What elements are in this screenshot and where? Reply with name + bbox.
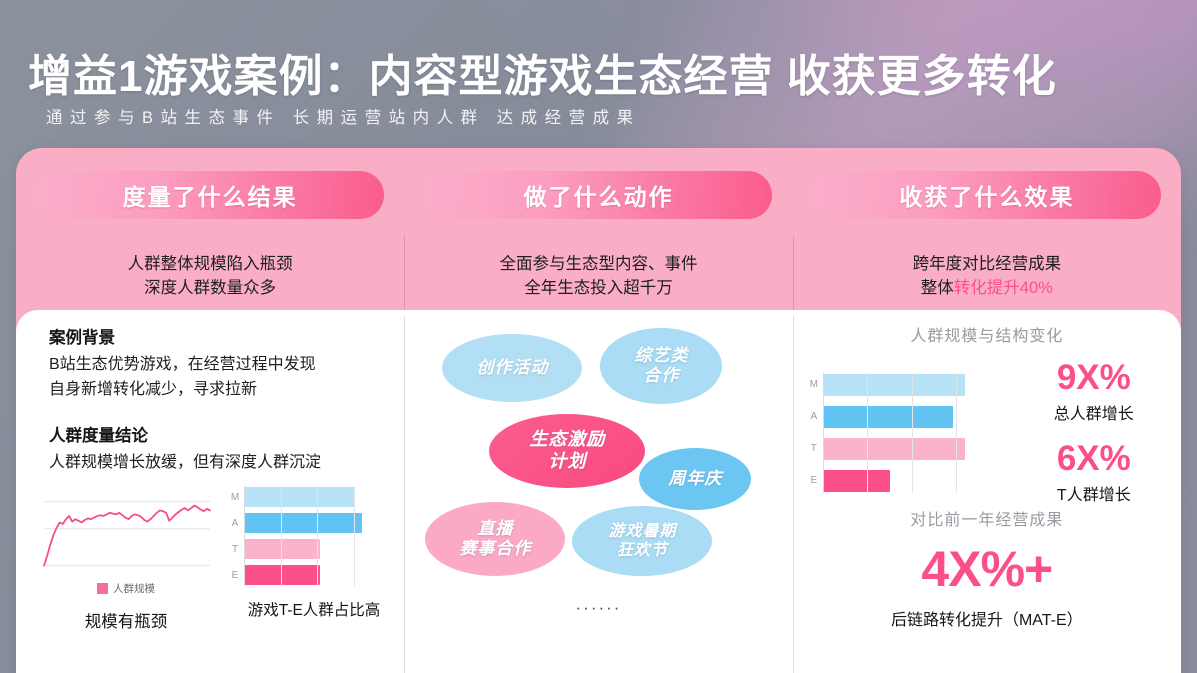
stat-number-t-growth: 6X% <box>1019 441 1169 476</box>
line-chart-caption: 规模有瓶颈 <box>38 608 214 632</box>
legend-swatch-icon <box>97 583 108 594</box>
audience-conclusion-block: 人群度量结论 人群规模增长放缓，但有深度人群沉淀 <box>49 422 399 476</box>
column-measure: 案例背景 B站生态优势游戏，在经营过程中发现 自身新增转化减少，寻求拉新 人群度… <box>16 310 404 673</box>
bar-label-E: E <box>805 475 823 486</box>
bubble-label-4-line2: 赛事合作 <box>459 539 531 558</box>
case-background-heading: 案例背景 <box>49 324 399 348</box>
summary-measure: 人群整体规模陷入瓶颈 深度人群数量众多 <box>16 242 404 310</box>
bubble-label-5-line2: 狂欢节 <box>617 542 668 559</box>
bubble-variety-show-coop[interactable]: 综艺类 合作 <box>600 328 722 404</box>
column-measure-charts: 人群规模 规模有瓶颈 MATE 游戏T-E人群占比高 <box>38 486 404 632</box>
summary-result-line2-prefix: 整体 <box>921 279 954 297</box>
slide-header: 增益1游戏案例：内容型游戏生态经营 收获更多转化 通过参与B站生态事件 长期运营… <box>0 0 1197 148</box>
summary-measure-line2: 深度人群数量众多 <box>144 277 276 299</box>
result-chart-row: MATE 9X% 总人群增长 6X% T人群增长 <box>793 360 1181 505</box>
summary-action-line2: 全年生态投入超千万 <box>524 277 673 299</box>
bar-T <box>244 539 320 559</box>
bar-T <box>823 438 965 460</box>
result-big-number: 4X%+ <box>793 544 1181 594</box>
audience-conclusion-heading: 人群度量结论 <box>49 422 399 446</box>
column-summary-band: 人群整体规模陷入瓶颈 深度人群数量众多 全面参与生态型内容、事件 全年生态投入超… <box>16 242 1181 310</box>
case-background-line1: B站生态优势游戏，在经营过程中发现 <box>49 353 399 378</box>
line-chart-legend: 人群规模 <box>38 581 214 596</box>
bar-M <box>823 374 965 396</box>
column-action: 创作活动 综艺类 合作 生态激励 计划 周年庆 直播 赛事合作 <box>404 310 792 673</box>
summary-measure-line1: 人群整体规模陷入瓶颈 <box>128 253 293 275</box>
pill-cell-1: 度量了什么结果 <box>16 148 404 242</box>
audience-conclusion-text: 人群规模增长放缓，但有深度人群沉淀 <box>49 451 399 476</box>
column-header-pill-action[interactable]: 做了什么动作 <box>424 171 772 219</box>
bar-A <box>244 513 362 533</box>
bar-E <box>244 565 320 585</box>
bubble-label-1-line1: 综艺类 <box>634 346 688 365</box>
stat-label-total-growth: 总人群增长 <box>1019 400 1169 424</box>
result-stat-group: 9X% 总人群增长 6X% T人群增长 <box>1019 360 1169 505</box>
bar-label-A: A <box>805 411 823 422</box>
case-background-text: B站生态优势游戏，在经营过程中发现 自身新增转化减少，寻求拉新 <box>49 353 399 403</box>
bubble-label-2: 生态激励 计划 <box>529 429 605 472</box>
stat-label-t-growth: T人群增长 <box>1019 481 1169 505</box>
bubble-label-5: 游戏暑期 狂欢节 <box>608 522 676 560</box>
column-measure-text: 案例背景 B站生态优势游戏，在经营过程中发现 自身新增转化减少，寻求拉新 人群度… <box>49 324 399 475</box>
column-result: 人群规模与结构变化 MATE 9X% 总人群增长 6X% T人群增长 对比前一年… <box>793 310 1181 673</box>
result-bottom-section: 对比前一年经营成果 4X%+ 后链路转化提升（MAT-E） <box>793 506 1181 630</box>
audience-structure-bar-chart: MATE <box>226 486 394 586</box>
bubble-ecosystem-incentive-plan[interactable]: 生态激励 计划 <box>489 414 645 488</box>
bar-label-M: M <box>805 379 823 390</box>
summary-action-line1: 全面参与生态型内容、事件 <box>499 253 697 275</box>
bubble-live-event-coop[interactable]: 直播 赛事合作 <box>425 502 565 576</box>
audience-growth-bar-chart: MATE <box>805 373 1005 493</box>
audience-scale-line-chart <box>38 486 214 578</box>
summary-result-line2: 整体转化提升40% <box>921 277 1053 299</box>
bubble-label-4: 直播 赛事合作 <box>459 519 531 560</box>
pill-cell-3: 收获了什么效果 <box>793 148 1181 242</box>
bubble-label-3: 周年庆 <box>668 469 722 489</box>
action-bubble-cloud: 创作活动 综艺类 合作 生态激励 计划 周年庆 直播 赛事合作 <box>404 310 792 600</box>
bar-label-A: A <box>226 518 244 529</box>
bubble-label-2-line2: 计划 <box>548 451 586 471</box>
bar-E <box>823 470 891 492</box>
bar-label-M: M <box>226 492 244 503</box>
bar-M <box>244 487 355 507</box>
pill-cell-2: 做了什么动作 <box>404 148 792 242</box>
bar-label-T: T <box>226 544 244 555</box>
bubble-label-1: 综艺类 合作 <box>634 346 688 387</box>
bar-chart-caption: 游戏T-E人群占比高 <box>226 598 402 620</box>
summary-result: 跨年度对比经营成果 整体转化提升40% <box>793 242 1181 310</box>
summary-result-line1: 跨年度对比经营成果 <box>913 253 1062 275</box>
result-big-label: 后链路转化提升（MAT-E） <box>793 606 1181 630</box>
bar-chart-block: MATE 游戏T-E人群占比高 <box>226 486 402 632</box>
bubble-label-2-line1: 生态激励 <box>529 429 605 449</box>
summary-action: 全面参与生态型内容、事件 全年生态投入超千万 <box>404 242 792 310</box>
column-header-pill-measure[interactable]: 度量了什么结果 <box>36 171 384 219</box>
bubble-summer-game-carnival[interactable]: 游戏暑期 狂欢节 <box>572 506 712 576</box>
bubble-cloud-ellipsis: ······ <box>404 598 792 618</box>
detail-panel: 案例背景 B站生态优势游戏，在经营过程中发现 自身新增转化减少，寻求拉新 人群度… <box>16 310 1181 673</box>
summary-result-highlight: 转化提升40% <box>954 279 1053 297</box>
column-headers-row: 度量了什么结果 做了什么动作 收获了什么效果 <box>16 148 1181 242</box>
bar-A <box>823 406 953 428</box>
bubble-label-5-line1: 游戏暑期 <box>608 523 676 540</box>
line-chart-block: 人群规模 规模有瓶颈 <box>38 486 214 632</box>
bubble-label-4-line1: 直播 <box>477 519 513 538</box>
bar-label-T: T <box>805 443 823 454</box>
case-background-line2: 自身新增转化减少，寻求拉新 <box>49 378 399 403</box>
result-top-title: 人群规模与结构变化 <box>793 322 1181 346</box>
result-bottom-title: 对比前一年经营成果 <box>793 506 1181 530</box>
result-top-section: 人群规模与结构变化 MATE 9X% 总人群增长 6X% T人群增长 <box>793 322 1181 505</box>
stat-number-total-growth: 9X% <box>1019 360 1169 395</box>
bubble-label-1-line2: 合作 <box>643 366 679 385</box>
page-subtitle: 通过参与B站生态事件 长期运营站内人群 达成经营成果 <box>46 104 1046 128</box>
page-title: 增益1游戏案例：内容型游戏生态经营 收获更多转化 <box>28 40 1168 104</box>
bar-label-E: E <box>226 570 244 581</box>
bubble-label-0: 创作活动 <box>476 358 548 378</box>
bubble-anniversary[interactable]: 周年庆 <box>639 448 751 510</box>
bubble-creation-activity[interactable]: 创作活动 <box>442 334 582 402</box>
column-header-pill-result[interactable]: 收获了什么效果 <box>813 171 1161 219</box>
legend-label: 人群规模 <box>113 581 155 596</box>
